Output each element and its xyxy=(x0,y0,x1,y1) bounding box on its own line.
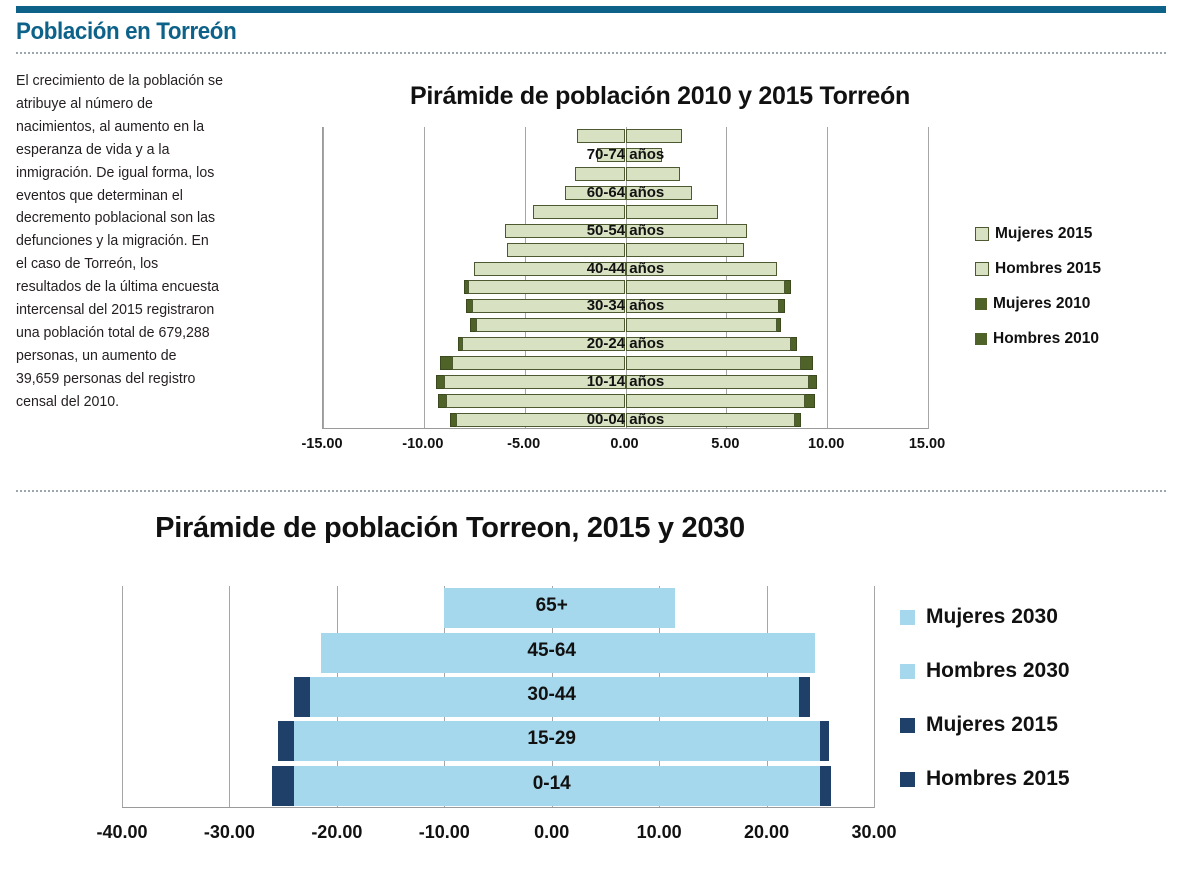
bar-mujeres-2015-5559aos xyxy=(626,205,719,219)
legend-label: Mujeres 2010 xyxy=(993,295,1090,313)
legend-label: Hombres 2015 xyxy=(995,260,1101,278)
gridline xyxy=(874,586,875,808)
chart1-plot-area: 70-74 años60-64 años50-54 años40-44 años… xyxy=(322,127,927,429)
gridline xyxy=(827,127,828,429)
bar-hombres-2015-6569aos xyxy=(575,167,625,181)
x-tick-label: 5.00 xyxy=(675,436,775,452)
legend-label: Mujeres 2015 xyxy=(995,225,1092,243)
bar-mujeres-2015-3539aos xyxy=(626,280,785,294)
category-label: 30-44 xyxy=(432,684,672,706)
bar-mujeres-2015-1519aos xyxy=(626,356,801,370)
legend-label: Mujeres 2015 xyxy=(926,713,1058,737)
bar-hombres-2015-2529aos xyxy=(476,318,625,332)
category-label: 15-29 xyxy=(432,728,672,750)
legend-swatch-icon xyxy=(900,610,915,625)
legend-item: Hombres 2010 xyxy=(975,330,1101,348)
category-label: 50-54 años xyxy=(506,222,746,239)
chart2-plot-area: 65+45-6430-4415-290-14 xyxy=(122,586,874,808)
x-tick-label: 10.00 xyxy=(609,822,709,843)
gridline xyxy=(424,127,425,429)
x-axis-line xyxy=(122,807,874,808)
x-tick-label: -5.00 xyxy=(474,436,574,452)
x-tick-label: -30.00 xyxy=(179,822,279,843)
x-tick-label: 30.00 xyxy=(824,822,924,843)
legend-swatch-icon xyxy=(975,227,989,241)
gridline xyxy=(122,586,123,808)
legend-swatch-icon xyxy=(900,664,915,679)
header-accent-bar xyxy=(16,6,1166,13)
x-tick-label: -15.00 xyxy=(272,436,372,452)
chart2-title: Pirámide de población Torreon, 2015 y 20… xyxy=(0,512,900,545)
legend-swatch-icon xyxy=(975,333,987,345)
legend-label: Hombres 2010 xyxy=(993,330,1099,348)
bar-hombres-2015-0509aos xyxy=(446,394,625,408)
bar-hombres-2015-1519aos xyxy=(452,356,625,370)
x-tick-label: 10.00 xyxy=(776,436,876,452)
legend-swatch-icon xyxy=(975,298,987,310)
bar-hombres-2015-3539aos xyxy=(468,280,625,294)
population-pyramid-2010-2015: Pirámide de población 2010 y 2015 Torreó… xyxy=(300,70,1180,470)
gridline xyxy=(323,127,324,429)
x-tick-label: -20.00 xyxy=(287,822,387,843)
category-label: 45-64 xyxy=(432,640,672,662)
category-label: 65+ xyxy=(432,595,672,617)
bar-hombres-2015-4549aos xyxy=(507,243,626,257)
legend-item: Mujeres 2010 xyxy=(975,295,1101,313)
chart2-legend: Mujeres 2030Hombres 2030Mujeres 2015Homb… xyxy=(900,605,1070,821)
legend-item: Mujeres 2015 xyxy=(900,713,1070,737)
x-tick-label: 15.00 xyxy=(877,436,977,452)
page-title: Población en Torreón xyxy=(16,18,236,46)
legend-swatch-icon xyxy=(975,262,989,276)
legend-item: Hombres 2015 xyxy=(900,767,1070,791)
x-tick-label: 0.00 xyxy=(502,822,602,843)
bar-hombres-2015-75+aos xyxy=(577,129,625,143)
legend-item: Hombres 2015 xyxy=(975,260,1101,278)
bar-mujeres-2015-4549aos xyxy=(626,243,745,257)
legend-item: Mujeres 2015 xyxy=(975,225,1101,243)
bar-mujeres-2015-6569aos xyxy=(626,167,680,181)
chart1-legend: Mujeres 2015Hombres 2015Mujeres 2010Homb… xyxy=(975,225,1101,365)
category-label: 0-14 xyxy=(432,773,672,795)
x-tick-label: 20.00 xyxy=(717,822,817,843)
category-label: 30-34 años xyxy=(506,297,746,314)
category-label: 00-04 años xyxy=(506,411,746,428)
bar-mujeres-2015-2529aos xyxy=(626,318,777,332)
legend-label: Hombres 2030 xyxy=(926,659,1070,683)
gridline xyxy=(229,586,230,808)
category-label: 70-74 años xyxy=(506,146,746,163)
bar-mujeres-2015-0509aos xyxy=(626,394,805,408)
section-divider xyxy=(16,490,1166,492)
category-label: 20-24 años xyxy=(506,335,746,352)
gridline xyxy=(928,127,929,429)
x-tick-label: 0.00 xyxy=(575,436,675,452)
category-label: 40-44 años xyxy=(506,260,746,277)
category-label: 60-64 años xyxy=(506,184,746,201)
narrative-text: El crecimiento de la población se atribu… xyxy=(16,70,224,414)
legend-item: Hombres 2030 xyxy=(900,659,1070,683)
legend-label: Hombres 2015 xyxy=(926,767,1070,791)
x-tick-label: -40.00 xyxy=(72,822,172,843)
legend-swatch-icon xyxy=(900,772,915,787)
legend-label: Mujeres 2030 xyxy=(926,605,1058,629)
bar-hombres-2015-5559aos xyxy=(533,205,626,219)
x-tick-label: -10.00 xyxy=(394,822,494,843)
chart1-title: Pirámide de población 2010 y 2015 Torreó… xyxy=(340,82,980,111)
header-divider xyxy=(16,52,1166,54)
legend-item: Mujeres 2030 xyxy=(900,605,1070,629)
bar-mujeres-2015-75+aos xyxy=(626,129,682,143)
population-pyramid-2015-2030: Pirámide de población Torreon, 2015 y 20… xyxy=(0,500,1182,871)
x-tick-label: -10.00 xyxy=(373,436,473,452)
x-axis-line xyxy=(323,428,928,429)
legend-swatch-icon xyxy=(900,718,915,733)
category-label: 10-14 años xyxy=(506,373,746,390)
